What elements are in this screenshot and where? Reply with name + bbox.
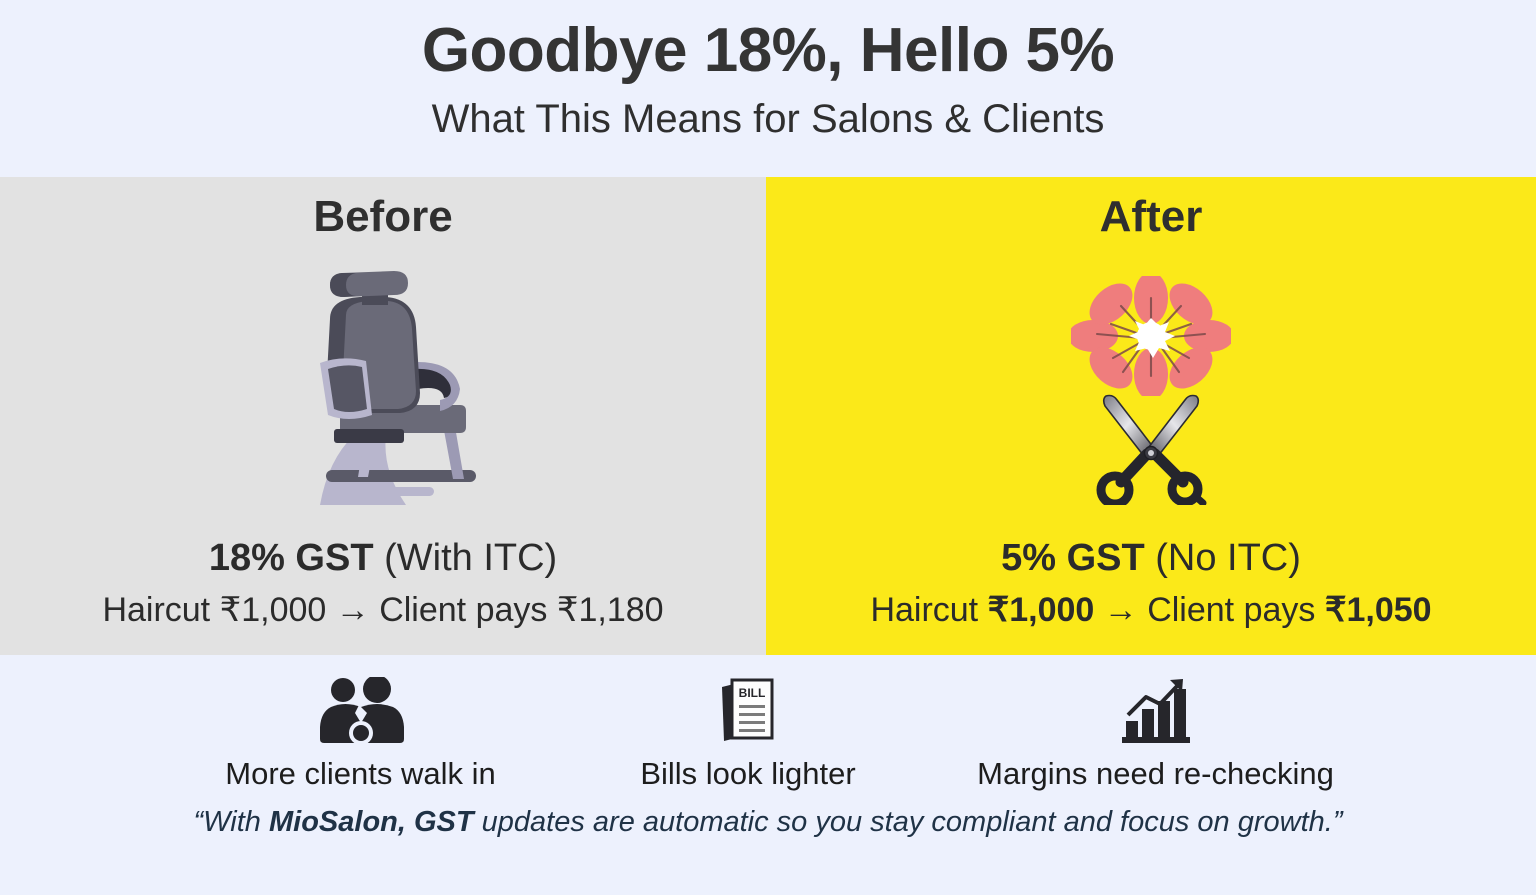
benefit-item-bills: BILL Bills look lighter — [576, 673, 921, 791]
after-final-amount: ₹1,050 — [1325, 591, 1432, 629]
before-base-amount: ₹1,000 — [220, 591, 327, 629]
growth-chart-icon — [1120, 673, 1192, 745]
before-example-prefix: Haircut — [102, 591, 219, 629]
people-group-icon — [315, 673, 407, 745]
header: Goodbye 18%, Hello 5% What This Means fo… — [0, 0, 1536, 177]
panel-before-rate-light: (With ITC) — [384, 537, 557, 579]
benefit-item-margins: Margins need re-checking — [921, 673, 1391, 791]
comparison-section: Before — [0, 177, 1536, 655]
panel-before-rate-bold: 18% GST — [209, 537, 384, 579]
panel-after-rate: 5% GST (No ITC) — [1001, 537, 1301, 581]
benefit-item-clients: More clients walk in — [146, 673, 576, 791]
benefit-label-bills: Bills look lighter — [640, 757, 855, 791]
before-arrow: → — [326, 591, 379, 629]
panel-after-example: Haircut ₹1,000 → Client pays ₹1,050 — [870, 590, 1431, 631]
bill-text: BILL — [739, 686, 766, 700]
after-example-middle: Client pays — [1147, 591, 1325, 629]
quote-open: “With — [194, 806, 269, 838]
panel-before-rate: 18% GST (With ITC) — [209, 537, 557, 581]
after-base-amount: ₹1,000 — [988, 591, 1095, 629]
benefits-row: More clients walk in BILL Bills look lig… — [0, 655, 1536, 791]
footer-quote: “With MioSalon, GST updates are automati… — [0, 805, 1536, 840]
panel-before: Before — [0, 177, 766, 655]
after-example-prefix: Haircut — [870, 591, 987, 629]
quote-brand: MioSalon, GST — [269, 806, 474, 838]
before-example-middle: Client pays — [379, 591, 557, 629]
infographic-root: Goodbye 18%, Hello 5% What This Means fo… — [0, 0, 1536, 895]
benefit-label-clients: More clients walk in — [225, 757, 495, 791]
panel-before-artwork — [0, 244, 766, 537]
panel-after: After — [766, 177, 1536, 655]
benefit-label-margins: Margins need re-checking — [977, 757, 1334, 791]
blossom-icon — [1071, 276, 1231, 396]
page-title: Goodbye 18%, Hello 5% — [422, 18, 1114, 83]
panel-after-artwork — [766, 244, 1536, 537]
panel-before-example: Haircut ₹1,000 → Client pays ₹1,180 — [102, 590, 663, 631]
quote-rest: updates are automatic so you stay compli… — [474, 806, 1343, 838]
after-arrow: → — [1094, 591, 1147, 629]
panel-before-heading: Before — [313, 191, 452, 244]
before-final-amount: ₹1,180 — [557, 591, 664, 629]
panel-after-heading: After — [1100, 191, 1203, 244]
panel-after-rate-bold: 5% GST — [1001, 537, 1155, 579]
page-subtitle: What This Means for Salons & Clients — [432, 97, 1105, 141]
panel-after-rate-light: (No ITC) — [1155, 537, 1301, 579]
scissors-icon — [1091, 390, 1211, 505]
after-art-stack — [1071, 276, 1231, 505]
bill-receipt-icon: BILL — [718, 673, 778, 745]
barber-chair-icon — [268, 265, 498, 515]
